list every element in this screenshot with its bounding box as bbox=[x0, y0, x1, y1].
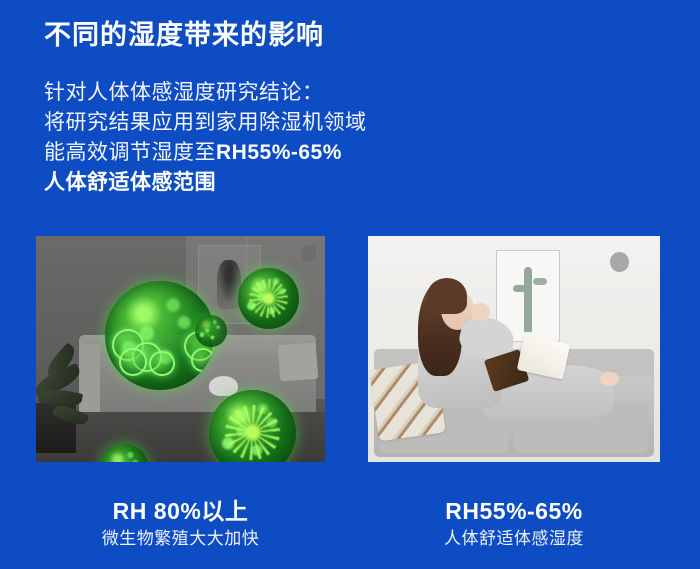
woman-reading bbox=[394, 274, 628, 455]
intro-line-3: 能高效调节湿度至RH55%-65% bbox=[44, 138, 484, 168]
woman-hair-top bbox=[427, 278, 467, 314]
caption-comfort-humidity-title: RH55%-65% bbox=[368, 496, 660, 526]
caption-comfort-humidity: RH55%-65% 人体舒适体感湿度 bbox=[368, 496, 660, 552]
caption-high-humidity-title: RH 80%以上 bbox=[36, 496, 325, 526]
wall-knob-icon bbox=[302, 245, 316, 261]
intro-line-3-highlight: RH55%-65% bbox=[216, 141, 342, 164]
intro-line-4: 人体舒适体感范围 bbox=[44, 168, 484, 198]
microbe-bubble bbox=[191, 348, 215, 372]
panel-comfort-humidity-photo bbox=[368, 236, 660, 462]
intro-line-2: 将研究结果应用到家用除湿机领域 bbox=[44, 108, 484, 138]
caption-comfort-humidity-sub: 人体舒适体感湿度 bbox=[368, 526, 660, 552]
microbe-bubble bbox=[149, 351, 175, 377]
high-humidity-image bbox=[36, 236, 325, 462]
caption-high-humidity: RH 80%以上 微生物繁殖大大加快 bbox=[36, 496, 325, 552]
microbe-blob-spiky bbox=[238, 268, 299, 329]
comfort-humidity-image bbox=[368, 236, 660, 462]
dark-sofa-cushion bbox=[278, 343, 318, 382]
page-title: 不同的湿度带来的影响 bbox=[44, 18, 324, 52]
dark-sofa-arm bbox=[79, 344, 99, 421]
microbe-blob-tiny bbox=[195, 315, 227, 347]
intro-line-1: 针对人体体感湿度研究结论： bbox=[44, 78, 484, 108]
panel-high-humidity-photo bbox=[36, 236, 325, 462]
microbe-blob-bottom bbox=[209, 390, 296, 462]
microbe-blob-small bbox=[100, 444, 149, 462]
intro-line-3-prefix: 能高效调节湿度至 bbox=[44, 141, 216, 164]
woman-foot bbox=[600, 372, 619, 386]
promo-slide: 不同的湿度带来的影响 针对人体体感湿度研究结论： 将研究结果应用到家用除湿机领域… bbox=[0, 0, 700, 569]
caption-high-humidity-sub: 微生物繁殖大大加快 bbox=[36, 526, 325, 552]
microbe-bubble bbox=[119, 348, 147, 376]
intro-paragraph: 针对人体体感湿度研究结论： 将研究结果应用到家用除湿机领域 能高效调节湿度至RH… bbox=[44, 78, 484, 198]
